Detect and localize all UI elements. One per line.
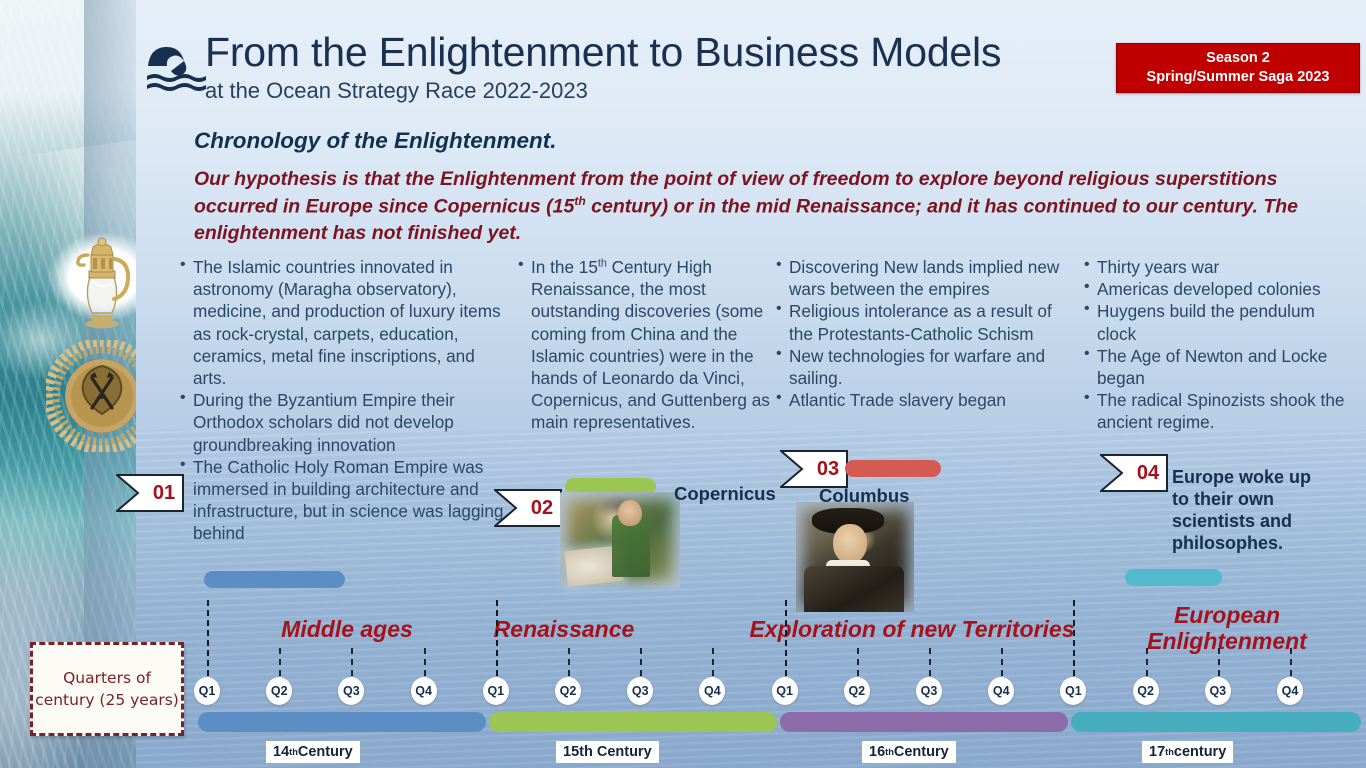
bullet-item: New technologies for warfare and sailing… <box>776 345 1066 389</box>
quarter-tick <box>1001 648 1003 676</box>
page-subtitle: at the Ocean Strategy Race 2022-2023 <box>205 78 588 104</box>
wave-logo-icon <box>145 36 207 98</box>
quarter-tick <box>712 648 714 676</box>
quarter-tick <box>857 648 859 676</box>
quarter-circle-3[interactable]: Q3 <box>338 677 364 705</box>
stage-marker-02[interactable]: 02 <box>494 489 562 527</box>
stage-marker-label: 02 <box>522 489 562 527</box>
quarter-circle-6[interactable]: Q2 <box>555 677 581 705</box>
century-label-15th: 15th Century <box>556 741 659 763</box>
bullet-item: The radical Spinozists shook the ancient… <box>1084 389 1352 433</box>
quarter-circle-4[interactable]: Q4 <box>411 677 437 705</box>
stage-marker-04[interactable]: 04 <box>1100 454 1168 492</box>
copernicus-caption: Copernicus <box>674 483 776 505</box>
bullet-item: During the Byzantium Empire their Orthod… <box>180 389 510 456</box>
bullet-item: Discovering New lands implied new wars b… <box>776 256 1066 300</box>
quarter-circle-15[interactable]: Q3 <box>1205 677 1231 705</box>
quarter-tick <box>640 648 642 676</box>
bullet-item: In the 15th Century High Renaissance, th… <box>518 256 770 434</box>
century-label-14th: 14th Century <box>266 741 360 763</box>
quarter-circle-2[interactable]: Q2 <box>266 677 292 705</box>
quarter-tick <box>351 648 353 676</box>
century-label-16th: 16th Century <box>862 741 956 763</box>
century-bar-16th <box>780 712 1068 732</box>
copernicus-face-detail <box>618 500 642 526</box>
era-label-middle-ages: Middle ages <box>248 616 446 642</box>
stage-marker-label: 03 <box>808 450 848 488</box>
bullet-item: The Islamic countries innovated in astro… <box>180 256 510 389</box>
quarter-circle-12[interactable]: Q4 <box>988 677 1014 705</box>
stage-marker-03[interactable]: 03 <box>780 450 848 488</box>
quarter-circle-1[interactable]: Q1 <box>194 677 220 705</box>
quarter-circle-8[interactable]: Q4 <box>699 677 725 705</box>
quarter-circle-9[interactable]: Q1 <box>772 677 798 705</box>
quarter-tick <box>1146 648 1148 676</box>
quarter-circle-10[interactable]: Q2 <box>844 677 870 705</box>
quarter-tick <box>1290 648 1292 676</box>
columbus-face-detail <box>833 524 867 564</box>
columbus-cloak-detail <box>804 566 904 612</box>
slide-canvas: From the Enlightenment to Business Model… <box>0 0 1366 768</box>
stage-marker-label: 04 <box>1128 454 1168 492</box>
hypothesis-paragraph: Our hypothesis is that the Enlightenment… <box>194 166 1309 247</box>
page-title: From the Enlightenment to Business Model… <box>205 31 1001 74</box>
quarter-circle-13[interactable]: Q1 <box>1060 677 1086 705</box>
quarter-circle-7[interactable]: Q3 <box>627 677 653 705</box>
season-badge: Season 2 Spring/Summer Saga 2023 <box>1116 43 1360 93</box>
quarter-tick <box>929 648 931 676</box>
bullet-item: The Age of Newton and Locke began <box>1084 345 1352 389</box>
columbus-caption: Columbus <box>819 485 909 507</box>
accent-pill-teal <box>1125 569 1222 586</box>
accent-pill-blue <box>204 571 345 588</box>
bullet-column-4: Thirty years warAmericas developed colon… <box>1084 256 1352 434</box>
bullet-item: The Catholic Holy Roman Empire was immer… <box>180 456 510 545</box>
century-label-17th: 17th century <box>1142 741 1233 763</box>
bullet-column-1: The Islamic countries innovated in astro… <box>180 256 510 544</box>
bullet-item: Atlantic Trade slavery began <box>776 389 1066 411</box>
bullet-item: Thirty years war <box>1084 256 1352 278</box>
quarters-of-century-note: Quarters of century (25 years) <box>30 642 184 736</box>
century-bar-17th <box>1071 712 1361 732</box>
century-bar-14th <box>198 712 486 732</box>
era-label-enlightenment: European Enlightenment <box>1130 602 1324 655</box>
astrolabe-medallion-icon <box>46 340 136 452</box>
bullet-item: Huygens build the pendulum clock <box>1084 300 1352 344</box>
quarter-circle-16[interactable]: Q4 <box>1277 677 1303 705</box>
stage-marker-01[interactable]: 01 <box>116 474 184 512</box>
quarter-tick <box>496 600 498 676</box>
bullet-item: Religious intolerance as a result of the… <box>776 300 1066 344</box>
accent-pill-red <box>845 460 941 477</box>
century-bar-15th <box>489 712 777 732</box>
season-badge-line1: Season 2 <box>1206 49 1270 68</box>
bullet-column-3: Discovering New lands implied new wars b… <box>776 256 1066 411</box>
quarter-circle-11[interactable]: Q3 <box>916 677 942 705</box>
quarter-tick <box>1073 600 1075 676</box>
quarter-tick <box>785 600 787 676</box>
quarter-circle-14[interactable]: Q2 <box>1133 677 1159 705</box>
quarter-circle-5[interactable]: Q1 <box>483 677 509 705</box>
quarter-tick <box>424 648 426 676</box>
europe-awakening-note: Europe woke up to their own scientists a… <box>1172 466 1332 555</box>
quarter-tick <box>1218 648 1220 676</box>
quarter-tick <box>568 648 570 676</box>
quarter-tick <box>207 600 209 676</box>
quarter-tick <box>279 648 281 676</box>
chronology-heading: Chronology of the Enlightenment. <box>194 128 556 154</box>
rock-crystal-ewer-icon <box>62 225 136 329</box>
stage-marker-label: 01 <box>144 474 184 512</box>
bullet-item: Americas developed colonies <box>1084 278 1352 300</box>
bullet-column-2: In the 15th Century High Renaissance, th… <box>518 256 770 434</box>
season-badge-line2: Spring/Summer Saga 2023 <box>1147 68 1330 87</box>
